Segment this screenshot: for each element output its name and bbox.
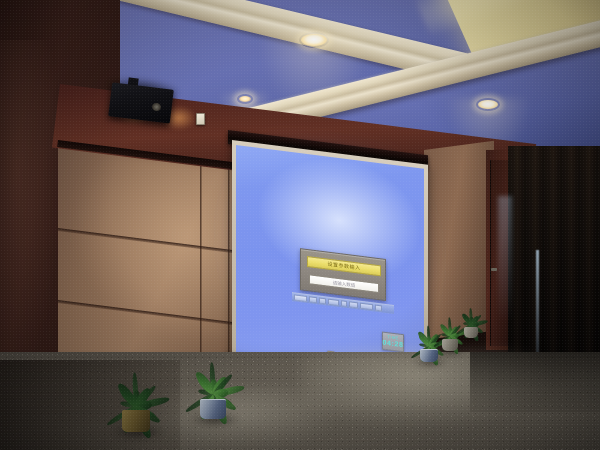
plant-pot [464, 327, 478, 338]
door-handle[interactable] [491, 268, 497, 271]
curtain-light-strip [536, 250, 539, 355]
downlight-2 [478, 100, 498, 109]
projected-dialog[interactable]: 设置参数输入 请输入数值 [300, 248, 386, 301]
projection-screen-surface[interactable]: 设置参数输入 请输入数值 TIME 04:28 [236, 145, 424, 377]
plant-pot [122, 410, 150, 432]
dialog-title-bar: 设置参数输入 [307, 256, 381, 276]
downlight-rim [299, 32, 329, 48]
downlight-1 [301, 34, 327, 46]
taskbar-start-button[interactable] [294, 294, 307, 302]
curtain-shading [508, 146, 600, 352]
downlight-rim [476, 98, 500, 111]
plant-pot [200, 399, 227, 420]
taskbar-item[interactable] [360, 303, 373, 311]
wall-panel-right [424, 141, 494, 340]
downlight-rim [237, 94, 253, 104]
ir-receiver-plate[interactable] [196, 113, 205, 125]
dialog-text-input[interactable]: 请输入数值 [309, 274, 379, 293]
wall-left-sheen [0, 40, 60, 370]
floor-shadow-right [470, 352, 600, 412]
taskbar-item[interactable] [375, 305, 382, 312]
taskbar-item[interactable] [309, 296, 317, 303]
downlight-3 [239, 96, 251, 102]
taskbar-item[interactable] [341, 300, 347, 307]
clock-digits: 04:28 [383, 340, 404, 350]
plant-pot [442, 339, 457, 351]
taskbar-item[interactable] [319, 297, 326, 304]
taskbar-item[interactable] [328, 299, 339, 306]
taskbar-item[interactable] [349, 301, 358, 308]
door-edge-glow [498, 196, 512, 346]
plant-pot [420, 349, 437, 363]
room-photo: 设置参数输入 请输入数值 TIME 04:28 [0, 0, 600, 450]
